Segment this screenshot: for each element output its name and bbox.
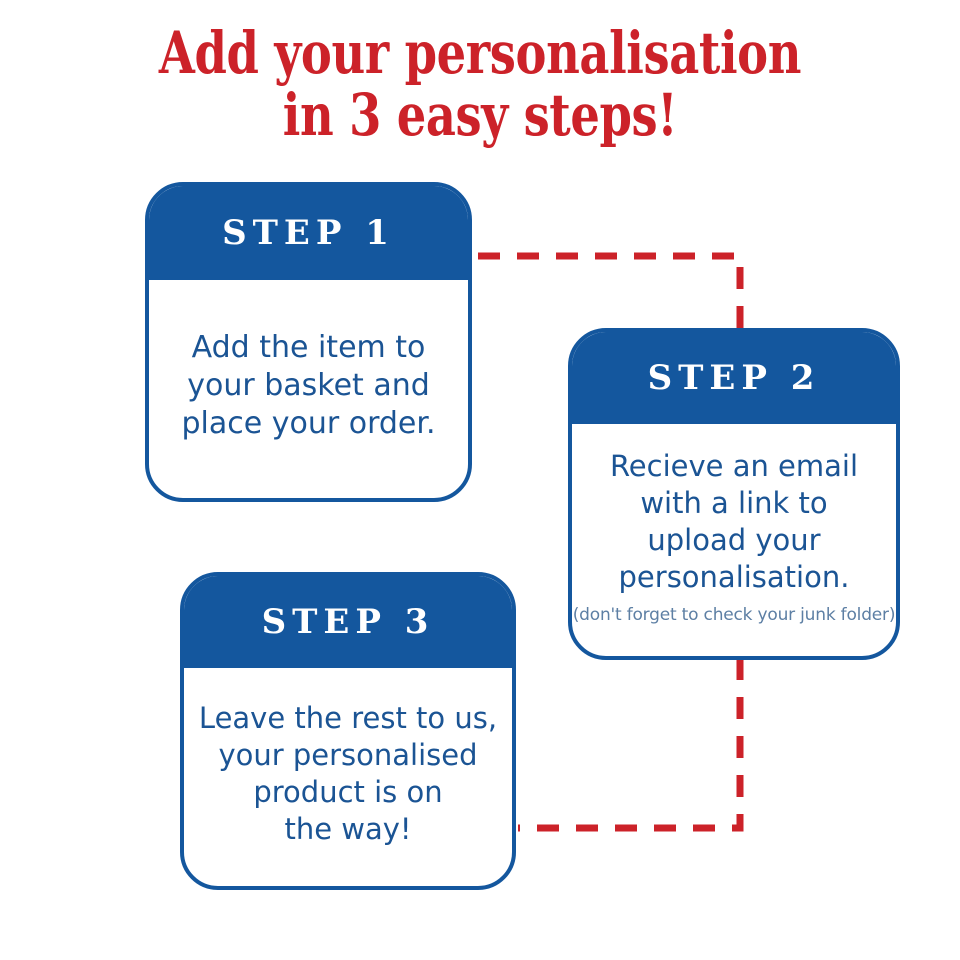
step-1-header: STEP 1 bbox=[149, 186, 468, 280]
step-2-text-line-4: personalisation. bbox=[610, 559, 858, 596]
step-3-text-line-2: your personalised bbox=[199, 737, 497, 774]
step-2-note: (don't forget to check your junk folder) bbox=[573, 604, 896, 626]
step-3-text: Leave the rest to us, your personalised … bbox=[199, 700, 497, 848]
step-3-text-line-3: product is on bbox=[199, 774, 497, 811]
step-2-header: STEP 2 bbox=[572, 332, 896, 424]
connector-step2-to-step3 bbox=[518, 658, 740, 828]
step-3-body: Leave the rest to us, your personalised … bbox=[184, 668, 512, 886]
connector-step1-to-step2 bbox=[478, 256, 740, 330]
step-3-text-line-1: Leave the rest to us, bbox=[199, 700, 497, 737]
step-2-text: Recieve an email with a link to upload y… bbox=[610, 448, 858, 596]
step-1-text-line-1: Add the item to bbox=[181, 329, 435, 367]
step-3-header: STEP 3 bbox=[184, 576, 512, 668]
step-2-text-line-3: upload your bbox=[610, 522, 858, 559]
step-1-text-line-3: place your order. bbox=[181, 405, 435, 443]
step-card-2: STEP 2 Recieve an email with a link to u… bbox=[568, 328, 900, 660]
step-3-text-line-4: the way! bbox=[199, 811, 497, 848]
step-card-3: STEP 3 Leave the rest to us, your person… bbox=[180, 572, 516, 890]
infographic-canvas: Add your personalisation in 3 easy steps… bbox=[0, 0, 960, 960]
step-1-text-line-2: your basket and bbox=[181, 367, 435, 405]
step-2-text-line-2: with a link to bbox=[610, 485, 858, 522]
step-1-body: Add the item to your basket and place yo… bbox=[149, 280, 468, 498]
step-1-text: Add the item to your basket and place yo… bbox=[181, 329, 435, 443]
step-2-body: Recieve an email with a link to upload y… bbox=[572, 424, 896, 656]
step-card-1: STEP 1 Add the item to your basket and p… bbox=[145, 182, 472, 502]
step-2-text-line-1: Recieve an email bbox=[610, 448, 858, 485]
